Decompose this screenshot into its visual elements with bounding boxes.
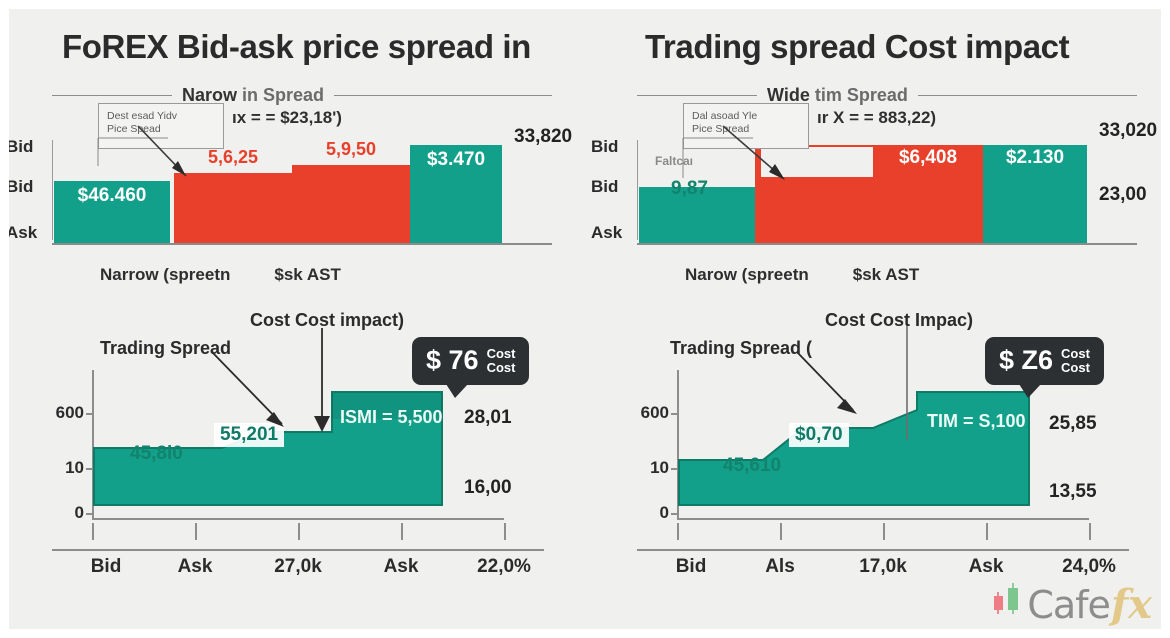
xtick-mark-3-left xyxy=(401,523,403,540)
note-equation-left: ıx = = $23,18') xyxy=(232,108,342,128)
top-bar-1-label-right: 9,87 xyxy=(671,178,708,200)
xtick-mark-1-right xyxy=(780,523,782,540)
trading-spread-annotation-right: Trading Spread ( xyxy=(670,338,812,359)
logo-fx: fx xyxy=(1111,586,1152,624)
rule-segment-right-left xyxy=(334,95,552,96)
sub-caption-left-text-right: Narow (spreetn xyxy=(685,265,809,284)
top-bar-4-label-right: $2.130 xyxy=(1006,147,1064,169)
xtick-mark-1-left xyxy=(195,523,197,540)
bottom-xtick-row-right: Bid Als 17,0k Ask 24,0% xyxy=(677,523,1089,571)
cost-badge-left: $ 76 Cost Cost xyxy=(412,337,529,385)
cost-annotation-left: Cost Cost impact) xyxy=(250,310,404,331)
sub-caption-left: Narrow (spreetn$sk AST xyxy=(100,265,341,285)
bottom-right-value-lower-left: 16,00 xyxy=(464,477,512,499)
top-ytick-1-right: Bid xyxy=(591,177,618,197)
cost-badge-amount-right: $ Z6 xyxy=(999,345,1053,376)
cost-badge-sub2-right: Cost xyxy=(1061,361,1090,375)
xlabel-2-right: 17,0k xyxy=(859,556,907,578)
top-bar-3-label-right: $6,408 xyxy=(899,147,957,169)
rule-segment-right-right xyxy=(918,95,1137,96)
top-right-value-left: 33,820 xyxy=(514,126,572,148)
top-ytick-1-left: Bid xyxy=(6,177,33,197)
cost-badge-sub1-right: Cost xyxy=(1061,347,1090,361)
value-left-left: 45,8l0 xyxy=(130,443,183,465)
top-yaxis-right xyxy=(637,140,638,240)
xlabel-3-right: Ask xyxy=(969,556,1004,578)
section-caption-bold-left: Narow xyxy=(182,85,237,105)
top-bar-3-left: 5,9,50 xyxy=(292,165,410,243)
bottom-right-value-lower-right: 13,55 xyxy=(1049,481,1097,503)
section-caption-bold-right: Wide xyxy=(767,85,810,105)
top-ytick-2-left: Ask xyxy=(6,223,37,243)
xtick-mark-3-right xyxy=(986,523,988,540)
value-left-right: 45,610 xyxy=(723,455,781,477)
section-caption-dim-right: tim Spread xyxy=(815,85,908,105)
sub-caption-right-text-right: $sk AST xyxy=(853,265,919,284)
panel-right: Trading spread Cost impact Wide tim Spre… xyxy=(585,0,1170,638)
top-bar-4-right: $2.130 xyxy=(983,145,1087,243)
cafefx-logo: Cafe fx xyxy=(989,580,1152,624)
cost-annotation-right: Cost Cost Impac) xyxy=(825,310,973,331)
top-ytick-0-right: Bid xyxy=(591,137,618,157)
xtick-mark-2-left xyxy=(298,523,300,540)
page-title-left: FoREX Bid-ask price spread in xyxy=(62,28,531,66)
top-right-value-lower-right: 23,00 xyxy=(1099,184,1147,206)
xlabel-1-left: Ask xyxy=(178,556,213,578)
note-equation-right: ır X = = 883,22) xyxy=(817,108,936,128)
xlabel-4-left: 22,0% xyxy=(477,556,531,578)
cost-badge-right: $ Z6 Cost Cost xyxy=(985,337,1104,385)
bottom-xtick-row-left: Bid Ask 27,0k Ask 22,0% xyxy=(92,523,504,571)
bottom-xtick-baseline-left xyxy=(52,549,544,551)
cost-badge-sub1-left: Cost xyxy=(487,347,516,361)
sub-caption-right-text: $sk AST xyxy=(274,265,340,284)
sub-caption-right: Narow (spreetn$sk AST xyxy=(685,265,919,285)
rule-segment-left-right xyxy=(637,95,757,96)
bottom-xtick-baseline-right xyxy=(637,549,1129,551)
logo-word: Cafe xyxy=(1027,586,1110,624)
band-label-left: ISMI = 5,500 xyxy=(340,407,443,428)
trading-spread-annotation-left: Trading Spread xyxy=(100,338,231,359)
top-bar-4-label-left: $3.470 xyxy=(427,149,485,171)
sub-caption-left-text: Narrow (spreetn xyxy=(100,265,230,284)
candlestick-icons xyxy=(989,580,1023,620)
xtick-mark-0-right xyxy=(677,523,679,540)
rule-segment-left xyxy=(52,95,172,96)
xlabel-3-left: Ask xyxy=(384,556,419,578)
cost-badge-sub2-left: Cost xyxy=(487,361,516,375)
note-leader-arrow-left xyxy=(90,120,230,200)
top-right-value-upper-right: 33,020 xyxy=(1099,120,1157,142)
xtick-mark-4-left xyxy=(504,523,506,540)
xtick-mark-2-right xyxy=(883,523,885,540)
cost-badge-amount-left: $ 76 xyxy=(426,345,479,376)
top-xaxis-left xyxy=(52,243,552,245)
cost-badge-sub-right: Cost Cost xyxy=(1061,347,1090,375)
xlabel-4-right: 24,0% xyxy=(1062,556,1116,578)
top-xaxis-right xyxy=(637,243,1137,245)
page-title-right: Trading spread Cost impact xyxy=(645,28,1069,66)
band-label-right: TIM = S,100 xyxy=(927,411,1026,432)
top-yaxis-left xyxy=(52,140,53,240)
xlabel-0-left: Bid xyxy=(91,556,122,578)
section-caption-dim-left: in Spread xyxy=(242,85,324,105)
xlabel-0-right: Bid xyxy=(676,556,707,578)
xlabel-2-left: 27,0k xyxy=(274,556,322,578)
bottom-ytick-2-right: 0 xyxy=(623,503,669,523)
top-bar-4-left: $3.470 xyxy=(410,145,502,243)
top-bar-3-label-left: 5,9,50 xyxy=(326,139,376,160)
xtick-mark-0-left xyxy=(92,523,94,540)
infographic-canvas: FoREX Bid-ask price spread in Narow in S… xyxy=(0,0,1170,638)
xtick-mark-4-right xyxy=(1089,523,1091,540)
panel-left: FoREX Bid-ask price spread in Narow in S… xyxy=(0,0,585,638)
cost-badge-sub-left: Cost Cost xyxy=(487,347,516,375)
top-ytick-0-left: Bid xyxy=(6,137,33,157)
xlabel-1-right: Als xyxy=(765,556,795,578)
top-bar-3-right: $6,408 xyxy=(873,145,983,243)
top-ytick-2-right: Ask xyxy=(591,223,622,243)
bottom-ytick-2-left: 0 xyxy=(38,503,84,523)
